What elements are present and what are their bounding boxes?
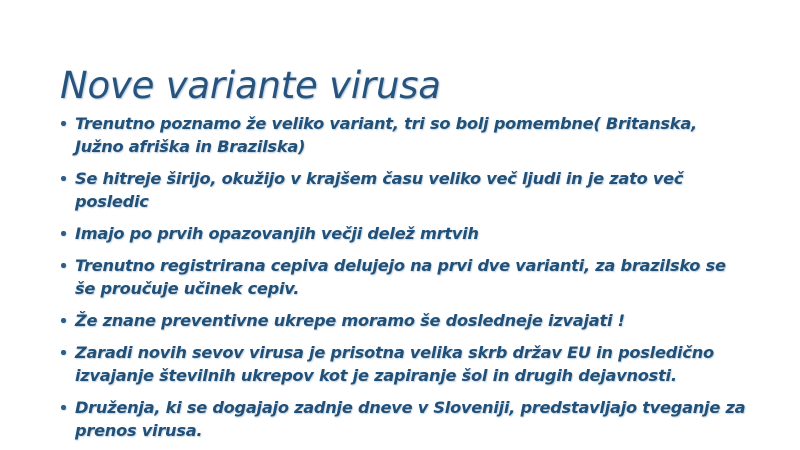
bullet-list-item: Že znane preventivne ukrepe moramo še do… bbox=[58, 309, 750, 332]
bullet-item-text: Se hitreje širijo, okužijo v krajšem čas… bbox=[75, 167, 750, 213]
bullet-item-text: Imajo po prvih opazovanjih večji delež m… bbox=[75, 222, 750, 245]
bullet-item-text: Trenutno poznamo že veliko variant, tri … bbox=[75, 112, 750, 158]
bullet-dot-icon bbox=[61, 405, 66, 410]
bullet-list-item: Zaradi novih sevov virusa je prisotna ve… bbox=[58, 341, 750, 387]
bullet-list-item: Imajo po prvih opazovanjih večji delež m… bbox=[58, 222, 750, 245]
slide-title: Nove variante virusa bbox=[60, 63, 760, 109]
bullet-dot-icon bbox=[61, 121, 66, 126]
bullet-item-text: Trenutno registrirana cepiva delujejo na… bbox=[75, 254, 750, 300]
bullet-dot-icon bbox=[61, 176, 66, 181]
bullet-dot-icon bbox=[61, 318, 66, 323]
bullet-item-text: Zaradi novih sevov virusa je prisotna ve… bbox=[75, 341, 750, 387]
bullet-dot-icon bbox=[61, 231, 66, 236]
bullet-list-item: Druženja, ki se dogajajo zadnje dneve v … bbox=[58, 396, 750, 442]
bullet-list-item: Trenutno poznamo že veliko variant, tri … bbox=[58, 112, 750, 158]
bullet-dot-icon bbox=[61, 263, 66, 268]
bullet-item-text: Druženja, ki se dogajajo zadnje dneve v … bbox=[75, 396, 750, 442]
bullet-list-item: Se hitreje širijo, okužijo v krajšem čas… bbox=[58, 167, 750, 213]
bullet-dot-icon bbox=[61, 350, 66, 355]
presentation-slide: Nove variante virusa Trenutno poznamo že… bbox=[0, 0, 800, 450]
slide-body-bullet-list: Trenutno poznamo že veliko variant, tri … bbox=[58, 112, 750, 442]
bullet-list-item: Trenutno registrirana cepiva delujejo na… bbox=[58, 254, 750, 300]
bullet-item-text: Že znane preventivne ukrepe moramo še do… bbox=[75, 309, 750, 332]
